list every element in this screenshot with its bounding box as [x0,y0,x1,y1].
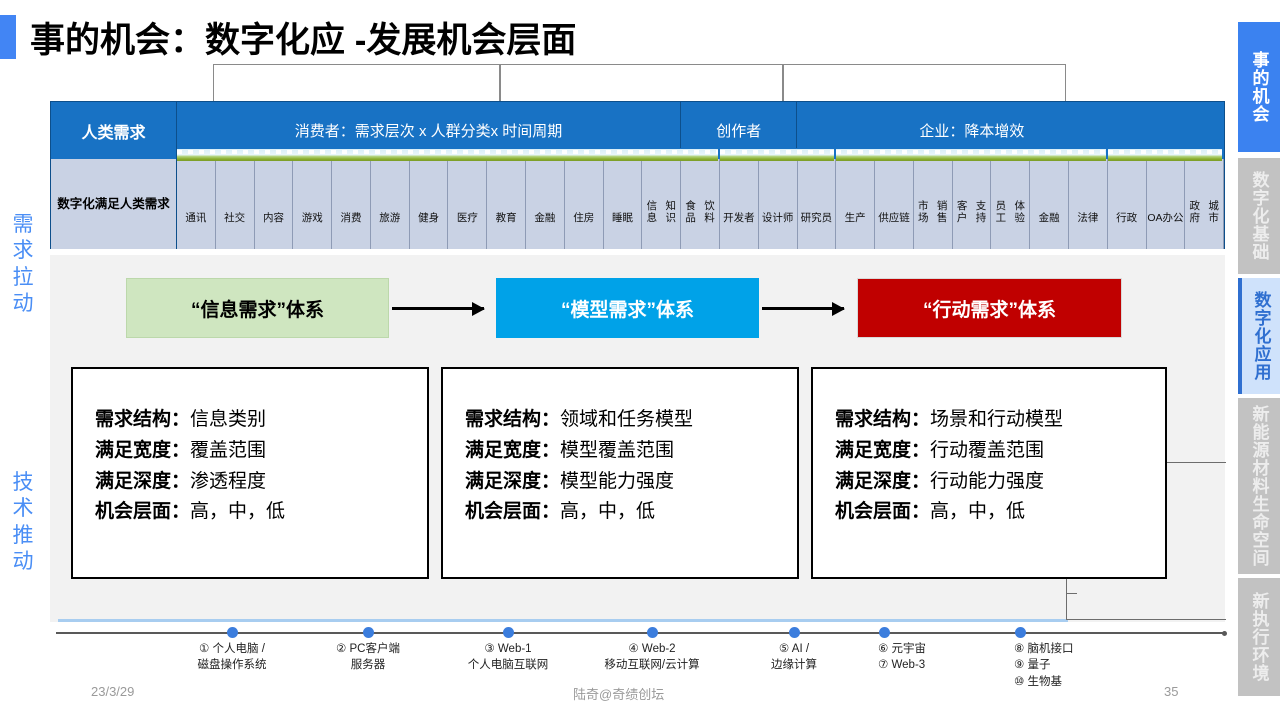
detail-box-action: 需求结构：场景和行动模型满足宽度：行动覆盖范围满足深度：行动能力强度机会层面：高… [811,367,1167,579]
table-column-26: 政府城市 [1185,159,1224,249]
table-column-11: 睡眠 [604,159,643,249]
sidebar-tab-label: 事的机会 [1247,51,1272,123]
timeline-label-1: ① 个人电脑 /磁盘操作系统 [198,641,267,674]
detail-key: 机会层面： [835,501,930,522]
detail-box-information: 需求结构：信息类别满足宽度：覆盖范围满足深度：渗透程度机会层面：高，中，低 [71,367,429,579]
timeline-label-4: ④ Web-2移动互联网/云计算 [604,641,699,674]
sidebar-tab-label: 新能源材料生命空间 [1247,405,1272,567]
sidebar-tab-label: 新执行环境 [1247,592,1272,682]
side-label-char: 需 [8,212,38,238]
table-column-2: 内容 [255,159,294,249]
sidebar-tab-1[interactable]: 数字化基础 [1238,158,1280,274]
table-group-0: 人类需求 [51,102,177,159]
table-row-label-line: 数字化满足 [57,195,120,213]
stage-box-model[interactable]: “模型需求”体系 [496,278,759,338]
right-sidebar-tabs: 事的机会数字化基础数字化应用新能源材料生命空间新执行环境 [1238,0,1280,720]
page-title: 事的机会：数字化应 -发展机会层面 [0,14,576,60]
title-text: 事的机会：数字化应 -发展机会层面 [30,12,576,63]
detail-row: 满足宽度：模型覆盖范围 [465,436,797,467]
sidebar-tab-2[interactable]: 数字化应用 [1238,278,1280,394]
detail-row: 满足深度：行动能力强度 [835,467,1165,498]
detail-key: 满足宽度： [95,440,190,461]
detail-value: 覆盖范围 [190,440,266,461]
detail-row: 机会层面：高，中，低 [465,497,797,528]
table-row-label: 数字化满足人类需求 [51,159,177,249]
table-row-label-line: 人类需求 [120,195,170,213]
decorative-sky-grass-band [720,148,834,161]
side-label-char: 动 [8,291,38,317]
detail-key: 机会层面： [95,501,190,522]
stage-box-information[interactable]: “信息需求”体系 [126,278,389,338]
table-column-17: 生产 [836,159,875,249]
footer-page-number: 35 [1164,684,1178,699]
panel-underline [58,619,1068,622]
table-column-19: 市场销售 [914,159,953,249]
detail-box-model: 需求结构：领域和任务模型满足宽度：模型覆盖范围满足深度：模型能力强度机会层面：高… [441,367,799,579]
sidebar-tab-0[interactable]: 事的机会 [1238,22,1280,152]
bracket-box-3 [783,64,1066,102]
table-column-15: 设计师 [759,159,798,249]
detail-value: 领域和任务模型 [560,409,693,430]
timeline-label-3: ③ Web-1个人电脑互联网 [468,641,549,674]
detail-value: 模型覆盖范围 [560,440,674,461]
detail-row: 需求结构：场景和行动模型 [835,405,1165,436]
timeline-dot-2[interactable] [363,627,374,638]
timeline-dot-6[interactable] [879,627,890,638]
table-column-1: 社交 [216,159,255,249]
timeline-dot-4[interactable] [647,627,658,638]
footer-author: 陆奇@奇绩创坛 [573,684,664,703]
detail-value: 场景和行动模型 [930,409,1063,430]
timeline-dot-5[interactable] [789,627,800,638]
table-column-16: 研究员 [798,159,837,249]
table-column-6: 健身 [410,159,449,249]
detail-row: 满足深度：渗透程度 [95,467,427,498]
bracket-box-2 [500,64,783,102]
sidebar-tab-4[interactable]: 新执行环境 [1238,578,1280,696]
sidebar-tab-3[interactable]: 新能源材料生命空间 [1238,398,1280,574]
timeline-dot-1[interactable] [227,627,238,638]
detail-key: 需求结构： [95,409,190,430]
side-label-char: 术 [8,496,38,522]
stage-box-action[interactable]: “行动需求”体系 [857,278,1122,338]
table-column-header-row: 数字化满足人类需求 通讯社交内容游戏消费旅游健身医疗教育金融住房睡眠信息知识食品… [51,159,1224,249]
side-label-char: 拉 [8,265,38,291]
detail-key: 满足深度： [465,471,560,492]
timeline-label-7: ⑧ 脑机接口⑨ 量子⑩ 生物基 [1014,641,1074,690]
timeline-dot-7[interactable] [1015,627,1026,638]
detail-row: 满足深度：模型能力强度 [465,467,797,498]
table-column-12: 信息知识 [642,159,681,249]
arrow-right-icon [392,307,484,310]
sidebar-tab-label: 数字化基础 [1247,171,1272,261]
detail-row: 需求结构：信息类别 [95,405,427,436]
detail-value: 高，中，低 [930,501,1025,522]
side-label-demand-pull: 需求拉动 [8,212,38,317]
detail-key: 需求结构： [465,409,560,430]
table-column-25: OA办公 [1147,159,1186,249]
arrow-right-icon [762,307,844,310]
table-column-8: 教育 [487,159,526,249]
detail-key: 机会层面： [465,501,560,522]
timeline-label-2: ② PC客户端服务器 [336,641,400,674]
table-column-0: 通讯 [177,159,216,249]
detail-key: 满足深度： [95,471,190,492]
table-column-18: 供应链 [875,159,914,249]
table-column-9: 金融 [526,159,565,249]
table-column-5: 旅游 [371,159,410,249]
decorative-sky-grass-band [836,148,1105,161]
table-column-20: 客户支持 [953,159,992,249]
side-label-char: 动 [8,549,38,575]
detail-row: 需求结构：领域和任务模型 [465,405,797,436]
detail-row: 机会层面：高，中，低 [835,497,1165,528]
table-column-22: 金融 [1030,159,1069,249]
decorative-sky-grass-band [1108,148,1222,161]
table-column-7: 医疗 [448,159,487,249]
detail-key: 满足宽度： [835,440,930,461]
table-column-4: 消费 [332,159,371,249]
sidebar-tab-label: 数字化应用 [1249,291,1274,381]
detail-value: 模型能力强度 [560,471,674,492]
detail-value: 信息类别 [190,409,266,430]
detail-key: 需求结构： [835,409,930,430]
footer-date: 23/3/29 [91,684,134,699]
table-column-3: 游戏 [293,159,332,249]
detail-row: 满足宽度：覆盖范围 [95,436,427,467]
table-column-24: 行政 [1108,159,1147,249]
table-column-23: 法律 [1069,159,1108,249]
detail-key: 满足宽度： [465,440,560,461]
table-column-14: 开发者 [720,159,759,249]
detail-value: 高，中，低 [560,501,655,522]
timeline-label-5: ⑤ AI /边缘计算 [771,641,817,674]
detail-value: 高，中，低 [190,501,285,522]
decorative-sky-grass-band [177,148,718,161]
side-label-char: 技 [8,470,38,496]
side-label-char: 求 [8,238,38,264]
timeline-label-6: ⑥ 元宇宙⑦ Web-3 [878,641,926,674]
bracket-box-1 [213,64,500,102]
table-column-13: 食品饮料 [681,159,720,249]
detail-value: 行动能力强度 [930,471,1044,492]
timeline-dot-3[interactable] [503,627,514,638]
table-column-10: 住房 [565,159,604,249]
title-accent-bar [0,15,16,59]
side-label-tech-push: 技术推动 [8,470,38,575]
needs-matrix-table: 人类需求消费者：需求层次 x 人群分类x 时间周期创作者企业：降本增效 数字化满… [50,101,1225,249]
detail-value: 渗透程度 [190,471,266,492]
detail-value: 行动覆盖范围 [930,440,1044,461]
table-columns: 通讯社交内容游戏消费旅游健身医疗教育金融住房睡眠信息知识食品饮料开发者设计师研究… [177,159,1224,249]
detail-row: 满足宽度：行动覆盖范围 [835,436,1165,467]
table-column-21: 员工体验 [991,159,1030,249]
side-label-char: 推 [8,523,38,549]
detail-key: 满足深度： [835,471,930,492]
detail-row: 机会层面：高，中，低 [95,497,427,528]
